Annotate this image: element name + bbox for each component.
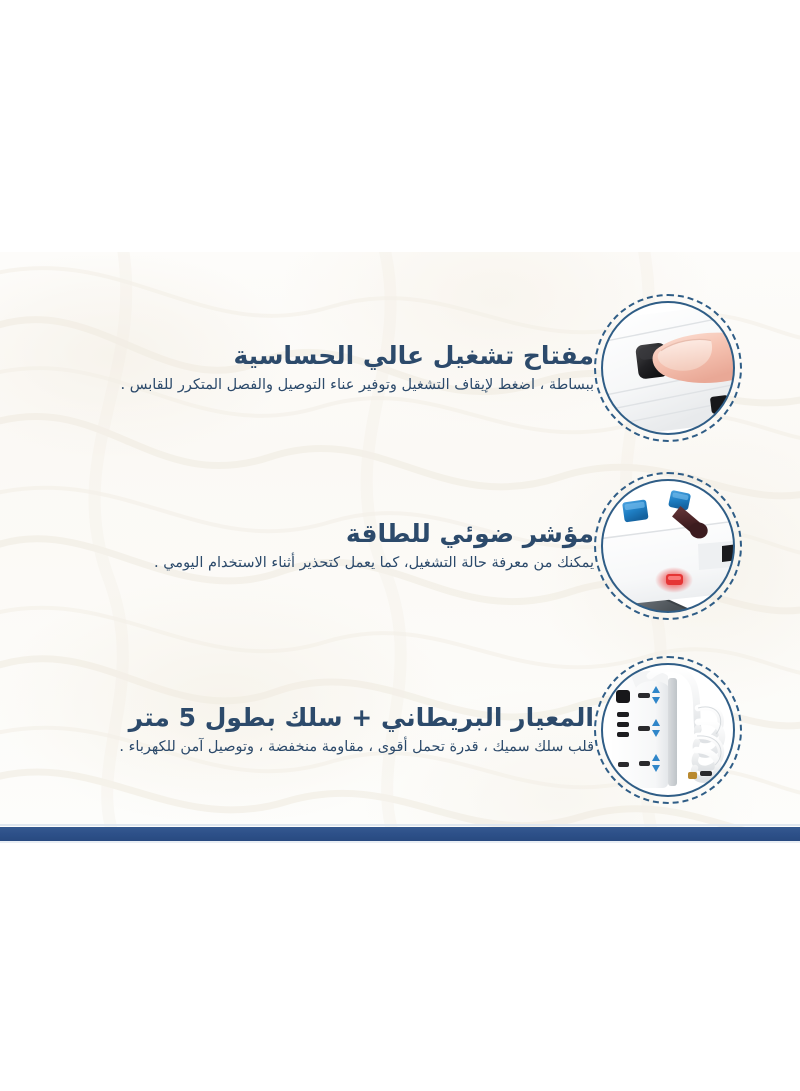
divider-bottom-hairline	[0, 841, 800, 843]
feature-title-2: مؤشر ضوئي للطاقة	[36, 518, 594, 549]
top-whitespace	[0, 0, 800, 252]
bottom-whitespace	[0, 844, 800, 1091]
power-strip-with-coiled-cable-photo	[594, 656, 742, 804]
feature-description-2: يمكنك من معرفة حالة التشغيل، كما يعمل كت…	[36, 554, 594, 574]
feature-description-3: قلب سلك سميك ، قدرة تحمل أقوى ، مقاومة م…	[36, 738, 594, 758]
feature-title-3: المعيار البريطاني + سلك بطول 5 متر	[36, 702, 594, 733]
divider-blue-bar	[0, 827, 800, 841]
feature-text-2: مؤشر ضوئي للطاقة يمكنك من معرفة حالة الت…	[0, 518, 594, 574]
feature-row-power-indicator: مؤشر ضوئي للطاقة يمكنك من معرفة حالة الت…	[0, 468, 800, 623]
feature-image-2	[602, 480, 734, 612]
feature-list: مفتاح تشغيل عالي الحساسية ببساطة ، اضغط …	[0, 252, 800, 827]
bottom-divider	[0, 824, 800, 844]
feature-image-1	[602, 302, 734, 434]
feature-text-3: المعيار البريطاني + سلك بطول 5 متر قلب س…	[0, 702, 594, 758]
feature-row-british-standard-cable: المعيار البريطاني + سلك بطول 5 متر قلب س…	[0, 650, 800, 810]
feature-image-3	[602, 664, 734, 796]
finger-pressing-switch-photo	[594, 294, 742, 442]
feature-title-1: مفتاح تشغيل عالي الحساسية	[36, 340, 594, 371]
feature-text-1: مفتاح تشغيل عالي الحساسية ببساطة ، اضغط …	[0, 340, 594, 396]
product-feature-page: مفتاح تشغيل عالي الحساسية ببساطة ، اضغط …	[0, 0, 800, 1091]
divider-top-hairline	[0, 824, 800, 826]
feature-row-sensitive-switch: مفتاح تشغيل عالي الحساسية ببساطة ، اضغط …	[0, 288, 800, 448]
feature-description-1: ببساطة ، اضغط لإيقاف التشغيل وتوفير عناء…	[36, 376, 594, 396]
power-led-indicator-photo	[594, 472, 742, 620]
